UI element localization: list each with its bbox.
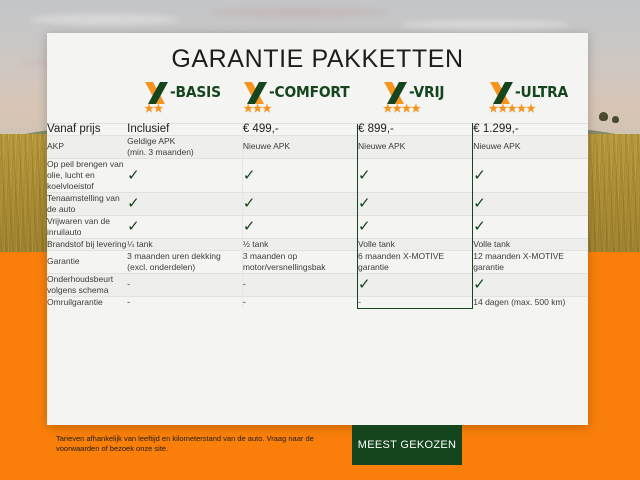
x-logo-icon [383, 81, 408, 105]
not-included-dash: - [127, 296, 242, 308]
cloud [210, 8, 390, 17]
table-cell: ¼ tank [127, 238, 242, 250]
table-cell: Nieuwe APK [473, 135, 588, 158]
tree [612, 116, 619, 123]
check-icon: ✓ [127, 158, 242, 192]
not-included-dash: - [358, 296, 473, 308]
table-row: Onderhoudsbeurt volgens schema--✓✓ [47, 273, 588, 296]
page-title: GARANTIE PAKKETTEN [47, 33, 588, 75]
x-logo-icon [243, 81, 268, 105]
check-icon: ✓ [473, 158, 588, 192]
package-header-basis[interactable]: -BASIS ★★ [127, 75, 242, 123]
check-icon: ✓ [127, 215, 242, 238]
check-icon: ✓ [242, 215, 357, 238]
row-label: Op peil brengen van olie, lucht en koelv… [47, 158, 127, 192]
table-cell: € 1.299,- [473, 123, 588, 135]
not-included-dash: - [127, 273, 242, 296]
meest-gekozen-button[interactable]: MEEST GEKOZEN [352, 425, 462, 465]
table-cell: € 499,- [242, 123, 357, 135]
table-row: Op peil brengen van olie, lucht en koelv… [47, 158, 588, 192]
package-name: -VRIJ [409, 85, 444, 100]
table-row: Vanaf prijsInclusief€ 499,-€ 899,-€ 1.29… [47, 123, 588, 135]
table-row: Vrijwaren van de inruilauto✓✓✓✓ [47, 215, 588, 238]
table-cell: 12 maanden X-MOTIVEgarantie [473, 250, 588, 273]
table-cell: Nieuwe APK [358, 135, 473, 158]
check-icon: ✓ [473, 273, 588, 296]
cloud [30, 14, 180, 25]
table-cell: € 899,- [358, 123, 473, 135]
check-icon: ✓ [473, 215, 588, 238]
row-label: Vanaf prijs [47, 123, 127, 135]
table-row: Omruilgarantie---14 dagen (max. 500 km) [47, 296, 588, 308]
row-label: Vrijwaren van de inruilauto [47, 215, 127, 238]
package-header-ultra[interactable]: -ULTRA ★★★★★ [473, 75, 588, 123]
row-label: Onderhoudsbeurt volgens schema [47, 273, 127, 296]
check-icon: ✓ [473, 192, 588, 215]
header-spacer [47, 75, 127, 123]
table-body: Vanaf prijsInclusief€ 499,-€ 899,-€ 1.29… [47, 123, 588, 308]
row-label: Omruilgarantie [47, 296, 127, 308]
table-cell: Volle tank [358, 238, 473, 250]
table-row: Garantie3 maanden uren dekking(excl. ond… [47, 250, 588, 273]
not-included-dash: - [242, 296, 357, 308]
table-cell: 6 maanden X-MOTIVEgarantie [358, 250, 473, 273]
table-cell: 14 dagen (max. 500 km) [473, 296, 588, 308]
row-label: Tenaamstelling van de auto [47, 192, 127, 215]
check-icon: ✓ [127, 192, 242, 215]
package-name: -COMFORT [269, 85, 349, 100]
check-icon: ✓ [242, 192, 357, 215]
table-cell: 3 maanden opmotor/versnellingsbak [242, 250, 357, 273]
table-cell: Inclusief [127, 123, 242, 135]
package-name: -ULTRA [515, 85, 568, 100]
package-header-vrij[interactable]: -VRIJ ★★★★ [358, 75, 473, 123]
table-row: AKPGeldige APK(min. 3 maanden)Nieuwe APK… [47, 135, 588, 158]
x-logo-icon [489, 81, 514, 105]
table-row: Brandstof bij levering¼ tank½ tankVolle … [47, 238, 588, 250]
table-cell: Volle tank [473, 238, 588, 250]
table-cell: ½ tank [242, 238, 357, 250]
terms-note: Tarieven afhankelijk van leeftijd en kil… [56, 434, 346, 454]
check-icon: ✓ [358, 158, 473, 192]
check-icon: ✓ [242, 158, 357, 192]
package-name: -BASIS [170, 85, 221, 100]
pricing-card: GARANTIE PAKKETTEN [47, 33, 588, 425]
row-label: AKP [47, 135, 127, 158]
package-comparison-table: -BASIS ★★ [47, 75, 588, 309]
check-icon: ✓ [358, 273, 473, 296]
card-footer: Tarieven afhankelijk van leeftijd en kil… [47, 431, 588, 469]
package-header-comfort[interactable]: -COMFORT ★★★ [242, 75, 357, 123]
table-cell: 3 maanden uren dekking(excl. onderdelen) [127, 250, 242, 273]
table-cell: Geldige APK(min. 3 maanden) [127, 135, 242, 158]
table-row: Tenaamstelling van de auto✓✓✓✓ [47, 192, 588, 215]
row-label: Garantie [47, 250, 127, 273]
row-label: Brandstof bij levering [47, 238, 127, 250]
x-logo-icon [144, 81, 169, 105]
check-icon: ✓ [358, 215, 473, 238]
table-cell: Nieuwe APK [242, 135, 357, 158]
cloud [400, 20, 570, 30]
table-header-row: -BASIS ★★ [47, 75, 588, 123]
tree [599, 112, 608, 121]
not-included-dash: - [242, 273, 357, 296]
check-icon: ✓ [358, 192, 473, 215]
